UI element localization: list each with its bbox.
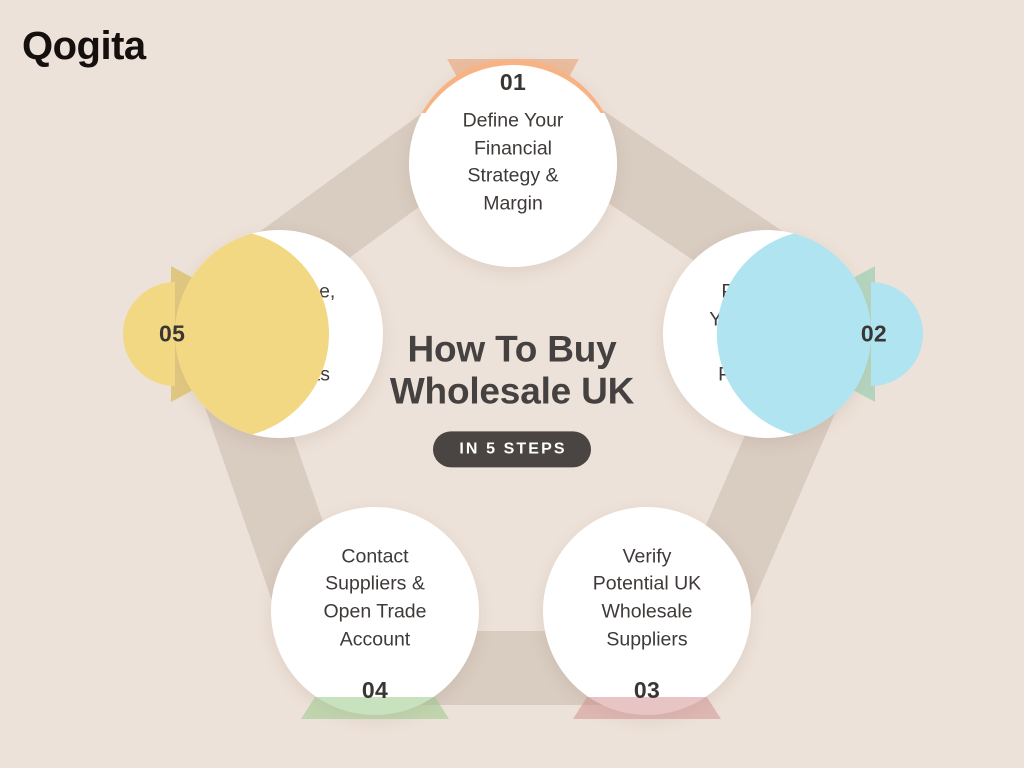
step-01-label: Define Your Financial Strategy & Margin [432,108,594,219]
step-05-number: 05 [159,323,185,346]
center-title-block: How To Buy Wholesale UK IN 5 STEPS [302,328,722,467]
steps-badge: IN 5 STEPS [433,432,590,468]
step-03-number: 03 [634,679,660,702]
step-04-number: 04 [362,679,388,702]
step-01-number: 01 [500,71,526,94]
step-04-label: Contact Suppliers & Open Trade Account [283,543,466,654]
qogita-logo: Qogita [22,26,146,66]
step-card-03[interactable]: 03 Verify Potential UK Wholesale Supplie… [543,507,751,715]
step-03-label: Verify Potential UK Wholesale Suppliers [555,543,738,654]
step-02-number: 02 [861,323,887,346]
infographic-canvas: Qogita [0,0,1024,768]
step-card-04[interactable]: 04 Contact Suppliers & Open Trade Accoun… [271,507,479,715]
step-card-01[interactable]: 01 Define Your Financial Strategy & Marg… [409,59,617,267]
page-title: How To Buy Wholesale UK [302,328,722,412]
